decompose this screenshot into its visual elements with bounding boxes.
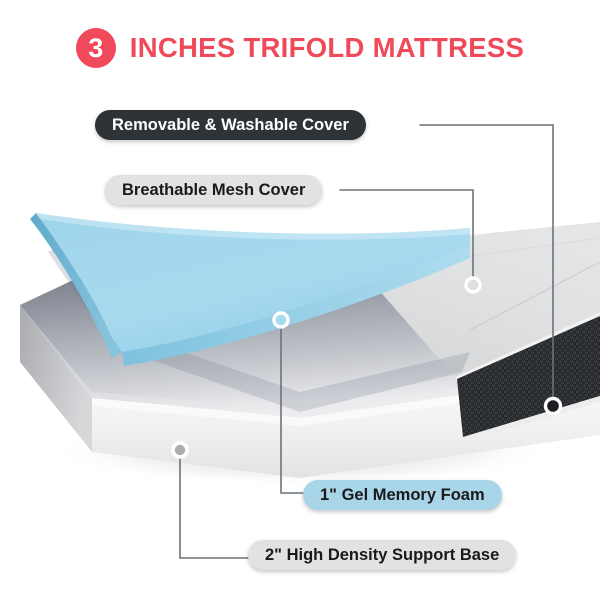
callout-label-text: 1" Gel Memory Foam <box>320 486 485 505</box>
infographic-canvas: 3 INCHES TRIFOLD MATTRESS <box>0 0 600 600</box>
callout-label-gel-memory-foam[interactable]: 1" Gel Memory Foam <box>303 480 502 510</box>
callout-label-high-density-support-base[interactable]: 2" High Density Support Base <box>248 540 516 570</box>
marker-breathable-mesh <box>466 278 480 292</box>
callout-label-text: 2" High Density Support Base <box>265 546 499 565</box>
marker-removable-cover <box>546 399 561 414</box>
callout-label-breathable-mesh-cover[interactable]: Breathable Mesh Cover <box>105 175 322 205</box>
marker-support-base <box>173 443 187 457</box>
callout-label-text: Breathable Mesh Cover <box>122 181 305 200</box>
callout-label-text: Removable & Washable Cover <box>112 116 349 135</box>
mattress-illustration <box>0 0 600 600</box>
marker-gel-foam <box>274 313 288 327</box>
callout-label-removable-washable-cover[interactable]: Removable & Washable Cover <box>95 110 366 140</box>
